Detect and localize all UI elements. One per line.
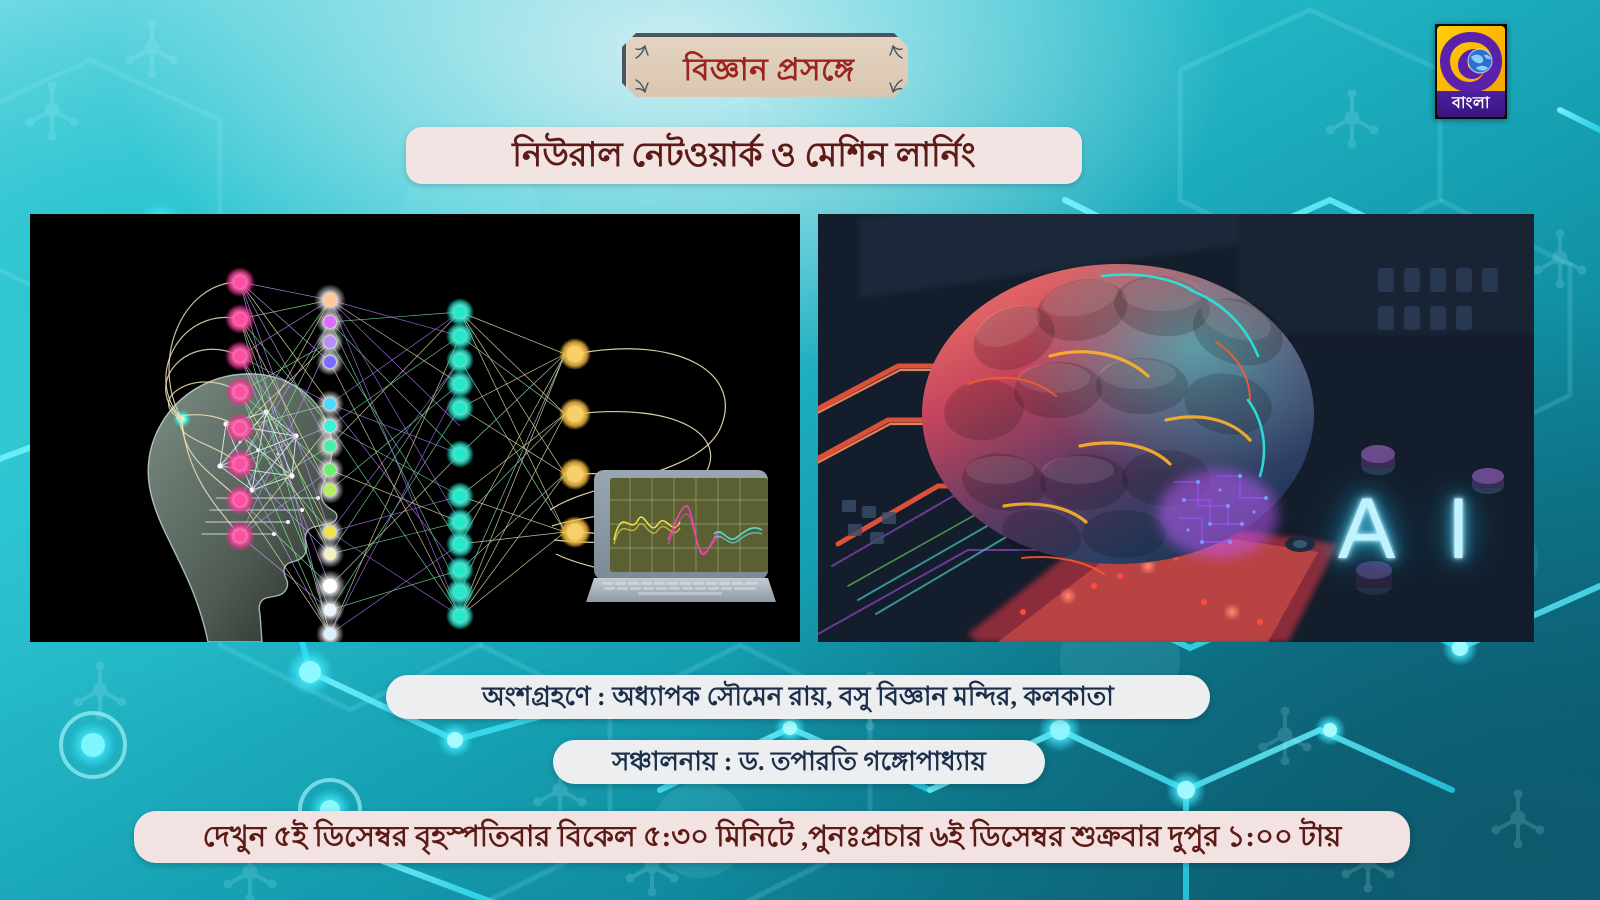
dd-bangla-channel-logo: বাংলা	[1435, 24, 1507, 119]
episode-title-pill: নিউরাল নেটওয়ার্ক ও মেশিন লার্নিং	[406, 127, 1082, 184]
broadcast-schedule-pill: দেখুন ৫ই ডিসেম্বর বৃহস্পতিবার বিকেল ৫:৩০…	[134, 811, 1410, 863]
laptop-illustration	[586, 470, 776, 605]
neural-network-artwork	[30, 214, 800, 642]
broadcast-schedule-text: দেখুন ৫ই ডিসেম্বর বৃহস্পতিবার বিকেল ৫:৩০…	[203, 823, 1342, 852]
series-title: বিজ্ঞান প্রসঙ্গে	[683, 54, 854, 85]
doordarshan-eye-icon	[1440, 31, 1502, 97]
logo-language-text: বাংলা	[1452, 96, 1490, 112]
plaque-ornament-bottom-right	[888, 78, 904, 94]
hidden-layer-1-nodes	[314, 284, 346, 642]
episode-title: নিউরাল নেটওয়ার্ক ও মেশিন লার্নিং	[512, 139, 975, 173]
circuit-board-and-brain	[818, 214, 1534, 642]
anchor-pill: সঞ্চালনায় : ড. তপারতি গঙ্গোপাধ্যায়	[553, 740, 1045, 784]
plaque-ornament-top-right	[888, 44, 904, 60]
ai-neon-label: A I	[1338, 486, 1486, 572]
laptop-keyboard	[600, 581, 762, 596]
logo-language-band: বাংলা	[1437, 91, 1505, 117]
participant-text: অংশগ্রহণে : অধ্যাপক সৌমেন রায়, বসু বিজ্…	[482, 684, 1114, 710]
brain-circuit-artwork: A I	[818, 214, 1534, 642]
plaque-ornament-top-left	[634, 44, 650, 60]
program-promo-poster: বিজ্ঞান প্রসঙ্গে নিউরাল নেটওয়ার্ক ও মেশ…	[0, 0, 1600, 900]
series-plaque: বিজ্ঞান প্রসঙ্গে	[622, 33, 916, 105]
anchor-text: সঞ্চালনায় : ড. তপারতি গঙ্গোপাধ্যায়	[612, 749, 986, 775]
neural-network-image	[30, 214, 800, 642]
laptop-screen-waveform-chart	[610, 478, 768, 572]
plaque-ornament-bottom-left	[634, 78, 650, 94]
laptop-lid	[594, 470, 768, 580]
participant-pill: অংশগ্রহণে : অধ্যাপক সৌমেন রায়, বসু বিজ্…	[386, 675, 1210, 719]
brain-circuit-image: A I	[818, 214, 1534, 642]
